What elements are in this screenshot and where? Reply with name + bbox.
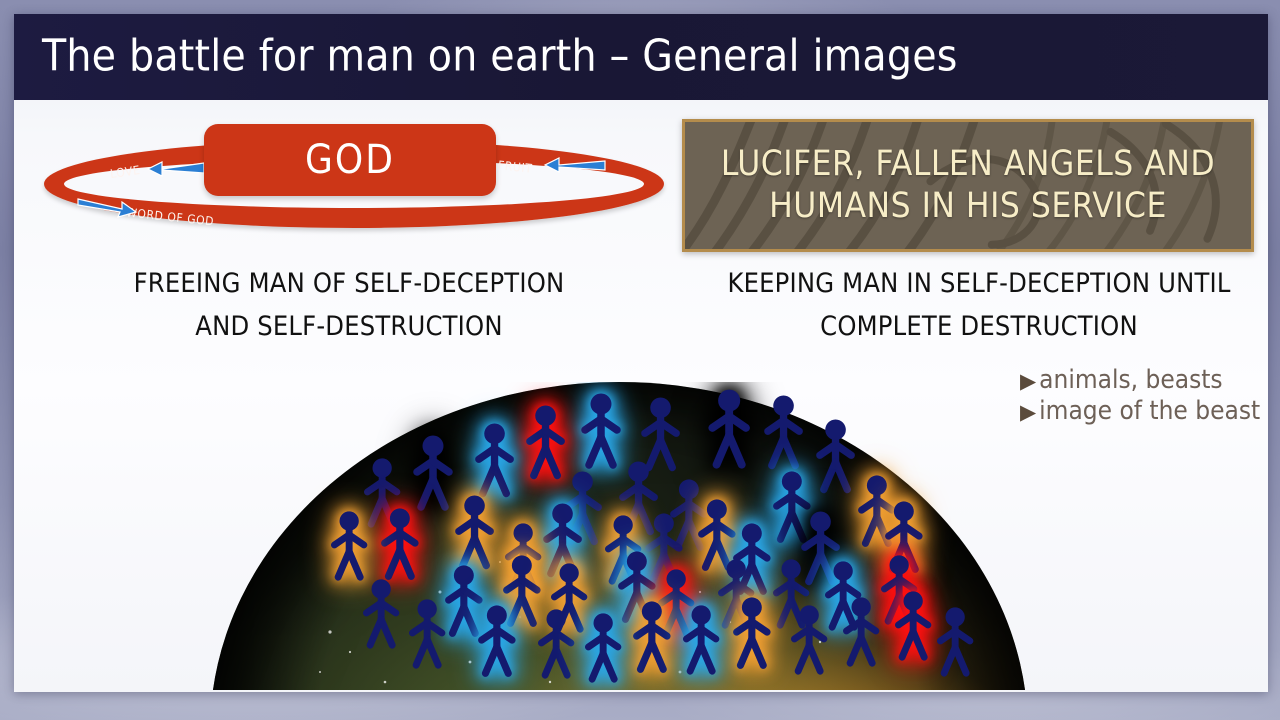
stick-figure [788, 604, 830, 676]
stick-figure [328, 510, 370, 582]
left-caption-line1: FREEING MAN OF SELF-DECEPTION [104, 262, 594, 305]
stick-figure [452, 494, 497, 570]
arrow-right-word-of-god-icon [76, 196, 138, 218]
bullet-label-animals-beasts: animals, beasts [1039, 366, 1222, 395]
stick-figure [378, 507, 422, 581]
stick-figure [410, 434, 456, 512]
stick-figure [934, 606, 976, 678]
stick-figure [840, 596, 882, 668]
left-caption: FREEING MAN OF SELF-DECEPTION AND SELF-D… [104, 262, 594, 348]
stick-figure [680, 604, 722, 676]
stick-figure [472, 422, 517, 498]
stick-figure [630, 600, 674, 674]
right-caption: KEEPING MAN IN SELF-DECEPTION UNTIL COMP… [714, 262, 1244, 348]
right-caption-line2: COMPLETE DESTRUCTION [714, 305, 1244, 348]
stick-figure [730, 596, 774, 670]
stick-figure [761, 394, 806, 470]
lucifer-banner-line2: HUMANS IN HIS SERVICE [721, 186, 1215, 227]
page-title: The battle for man on earth – General im… [42, 30, 958, 81]
stick-figure [535, 608, 577, 680]
slide-canvas: LOVE WORD OF GOD FRUIT GOD [14, 14, 1268, 692]
earth-globe-illustration [210, 382, 1028, 690]
beast-bullet-list: ▶ animals, beasts ▶ image of the beast [1020, 366, 1268, 427]
stick-figure [705, 388, 753, 470]
stick-figure [813, 418, 858, 494]
stick-figure [523, 404, 568, 480]
god-diagram: LOVE WORD OF GOD FRUIT GOD [38, 124, 668, 244]
right-caption-line1: KEEPING MAN IN SELF-DECEPTION UNTIL [714, 262, 1244, 305]
stick-figure [360, 578, 402, 650]
stick-figure [892, 590, 934, 662]
lucifer-banner: LUCIFER, FALLEN ANGELS AND HUMANS IN HIS… [682, 119, 1254, 252]
god-label: GOD [305, 137, 395, 183]
list-item: ▶ image of the beast [1020, 397, 1268, 426]
arrow-left-fruit-icon [543, 156, 607, 174]
stick-figure [475, 604, 519, 678]
lucifer-banner-text: LUCIFER, FALLEN ANGELS AND HUMANS IN HIS… [721, 144, 1215, 227]
left-caption-line2: AND SELF-DESTRUCTION [104, 305, 594, 348]
lucifer-banner-line1: LUCIFER, FALLEN ANGELS AND [721, 144, 1215, 185]
list-item: ▶ animals, beasts [1020, 366, 1268, 395]
slide-title-bar: The battle for man on earth – General im… [14, 14, 1268, 100]
arrow-left-love-icon [146, 160, 206, 178]
stick-figure [578, 392, 624, 470]
stick-figure [582, 612, 624, 684]
stick-figure [406, 598, 448, 670]
bullet-label-image-of-the-beast: image of the beast [1039, 397, 1260, 426]
god-box: GOD [204, 124, 496, 196]
